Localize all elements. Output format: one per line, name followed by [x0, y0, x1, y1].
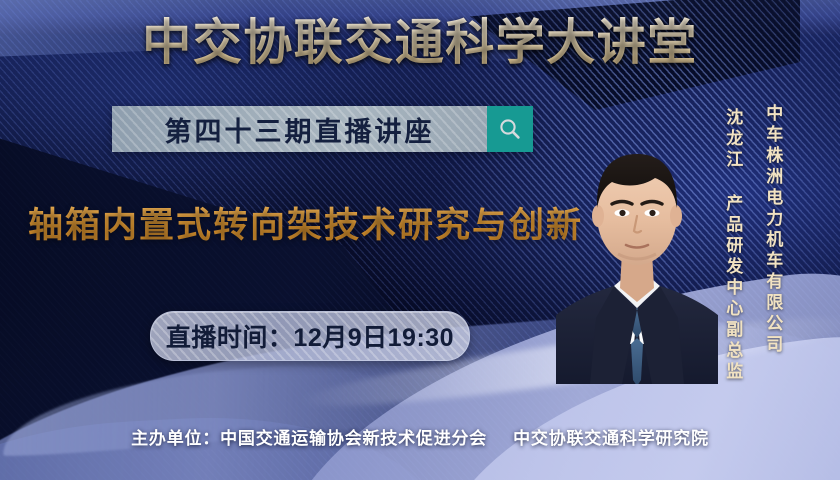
speaker-company: 中车株洲电力机车有限公司 — [762, 104, 783, 356]
lecture-title: 轴箱内置式转向架技术研究与创新 — [28, 197, 583, 248]
speaker-name-role: 沈龙江 产品研发中心副总监 — [722, 108, 743, 383]
page-title: 中交协联交通科学大讲堂 — [0, 16, 840, 71]
search-icon-button[interactable] — [487, 106, 533, 152]
footer-organizer-label: 主办单位： — [131, 429, 220, 448]
episode-banner: 第四十三期直播讲座 — [112, 106, 533, 152]
episode-label: 第四十三期直播讲座 — [165, 110, 435, 149]
portrait-illustration — [556, 112, 718, 384]
episode-banner-body: 第四十三期直播讲座 — [112, 106, 487, 152]
speaker-portrait — [556, 112, 718, 384]
footer-organizer-1: 中国交通运输协会新技术促进分会 — [220, 429, 487, 448]
broadcast-time-badge: 直播时间：12月9日19:30 — [150, 311, 470, 361]
footer: 主办单位：中国交通运输协会新技术促进分会中交协联交通科学研究院 — [0, 424, 840, 449]
broadcast-time-text: 直播时间：12月9日19:30 — [166, 318, 454, 354]
live-lecture-poster: 中交协联交通科学大讲堂 第四十三期直播讲座 轴箱内置式转向架技术研究与创新 直播… — [0, 0, 840, 480]
footer-organizer-2: 中交协联交通科学研究院 — [513, 429, 709, 448]
search-icon — [497, 116, 523, 142]
